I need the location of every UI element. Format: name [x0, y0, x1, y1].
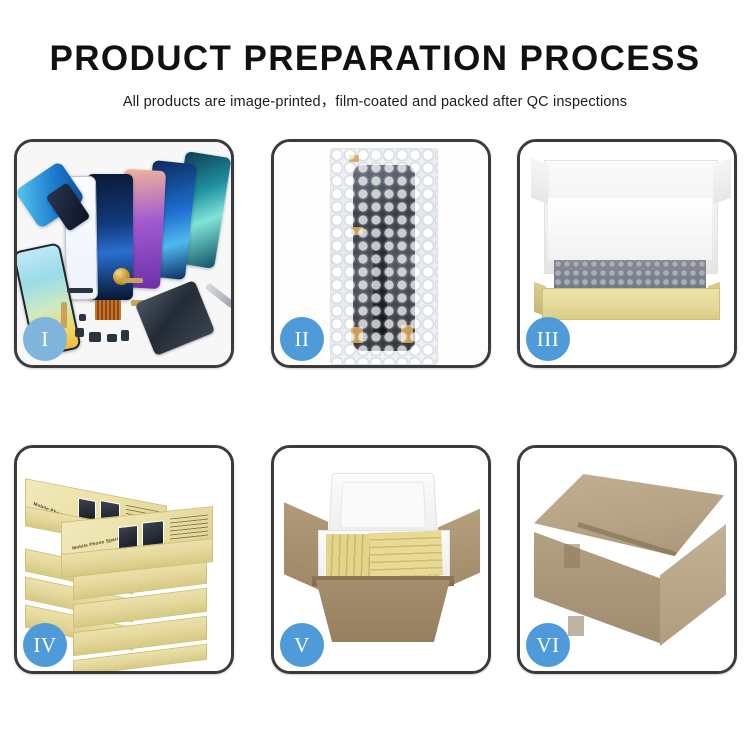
page-header: PRODUCT PREPARATION PROCESS All products…: [0, 0, 750, 111]
foam-box-lid-inner: [340, 482, 426, 529]
bubble-wrap-bag: [330, 148, 438, 365]
box-bubble-contents: [554, 260, 706, 290]
yellow-boxes-row-2: [369, 531, 442, 577]
step-badge-5: V: [280, 623, 324, 667]
process-steps-grid: I II III: [14, 139, 737, 674]
component-square-1: [75, 328, 84, 337]
step-panel-2: II: [271, 139, 491, 368]
step-panel-5: V: [271, 445, 491, 674]
component-square-3: [107, 334, 117, 342]
step-panel-4: Mobile Phone Spare Parts Mobile Phone Sp…: [14, 445, 234, 674]
logic-board-chip: [95, 300, 121, 320]
repair-tool: [204, 282, 231, 308]
page-title: PRODUCT PREPARATION PROCESS: [0, 0, 750, 79]
component-square-2: [89, 332, 101, 342]
page-subtitle: All products are image-printed，film-coat…: [0, 79, 750, 111]
component-square-4: [121, 330, 129, 341]
step-badge-2: II: [280, 317, 324, 361]
step-panel-6: VI: [517, 445, 737, 674]
step-badge-4: IV: [23, 623, 67, 667]
front-label-text-lines: [170, 515, 208, 541]
component-square-5: [79, 314, 86, 321]
wrapped-flex-strip: [373, 223, 387, 335]
tape-bottom-left: [351, 327, 363, 343]
step-badge-6: VI: [526, 623, 570, 667]
carton-tape-lower: [568, 616, 584, 636]
step-panel-3: III: [517, 139, 737, 368]
box-yellow-front: [542, 288, 720, 320]
component-bar: [67, 288, 93, 293]
tape-middle: [351, 227, 363, 235]
step-badge-3: III: [526, 317, 570, 361]
tape-top: [349, 155, 359, 162]
step-badge-1: I: [23, 317, 67, 361]
carton-tape-upper: [564, 544, 580, 568]
phone-chassis: [135, 280, 215, 356]
box-foam-sheet: [548, 198, 712, 260]
tape-bottom-right: [401, 325, 413, 343]
step-panel-1: I: [14, 139, 234, 368]
flex-cable-1: [121, 278, 143, 283]
carton-front-face: [316, 580, 450, 642]
